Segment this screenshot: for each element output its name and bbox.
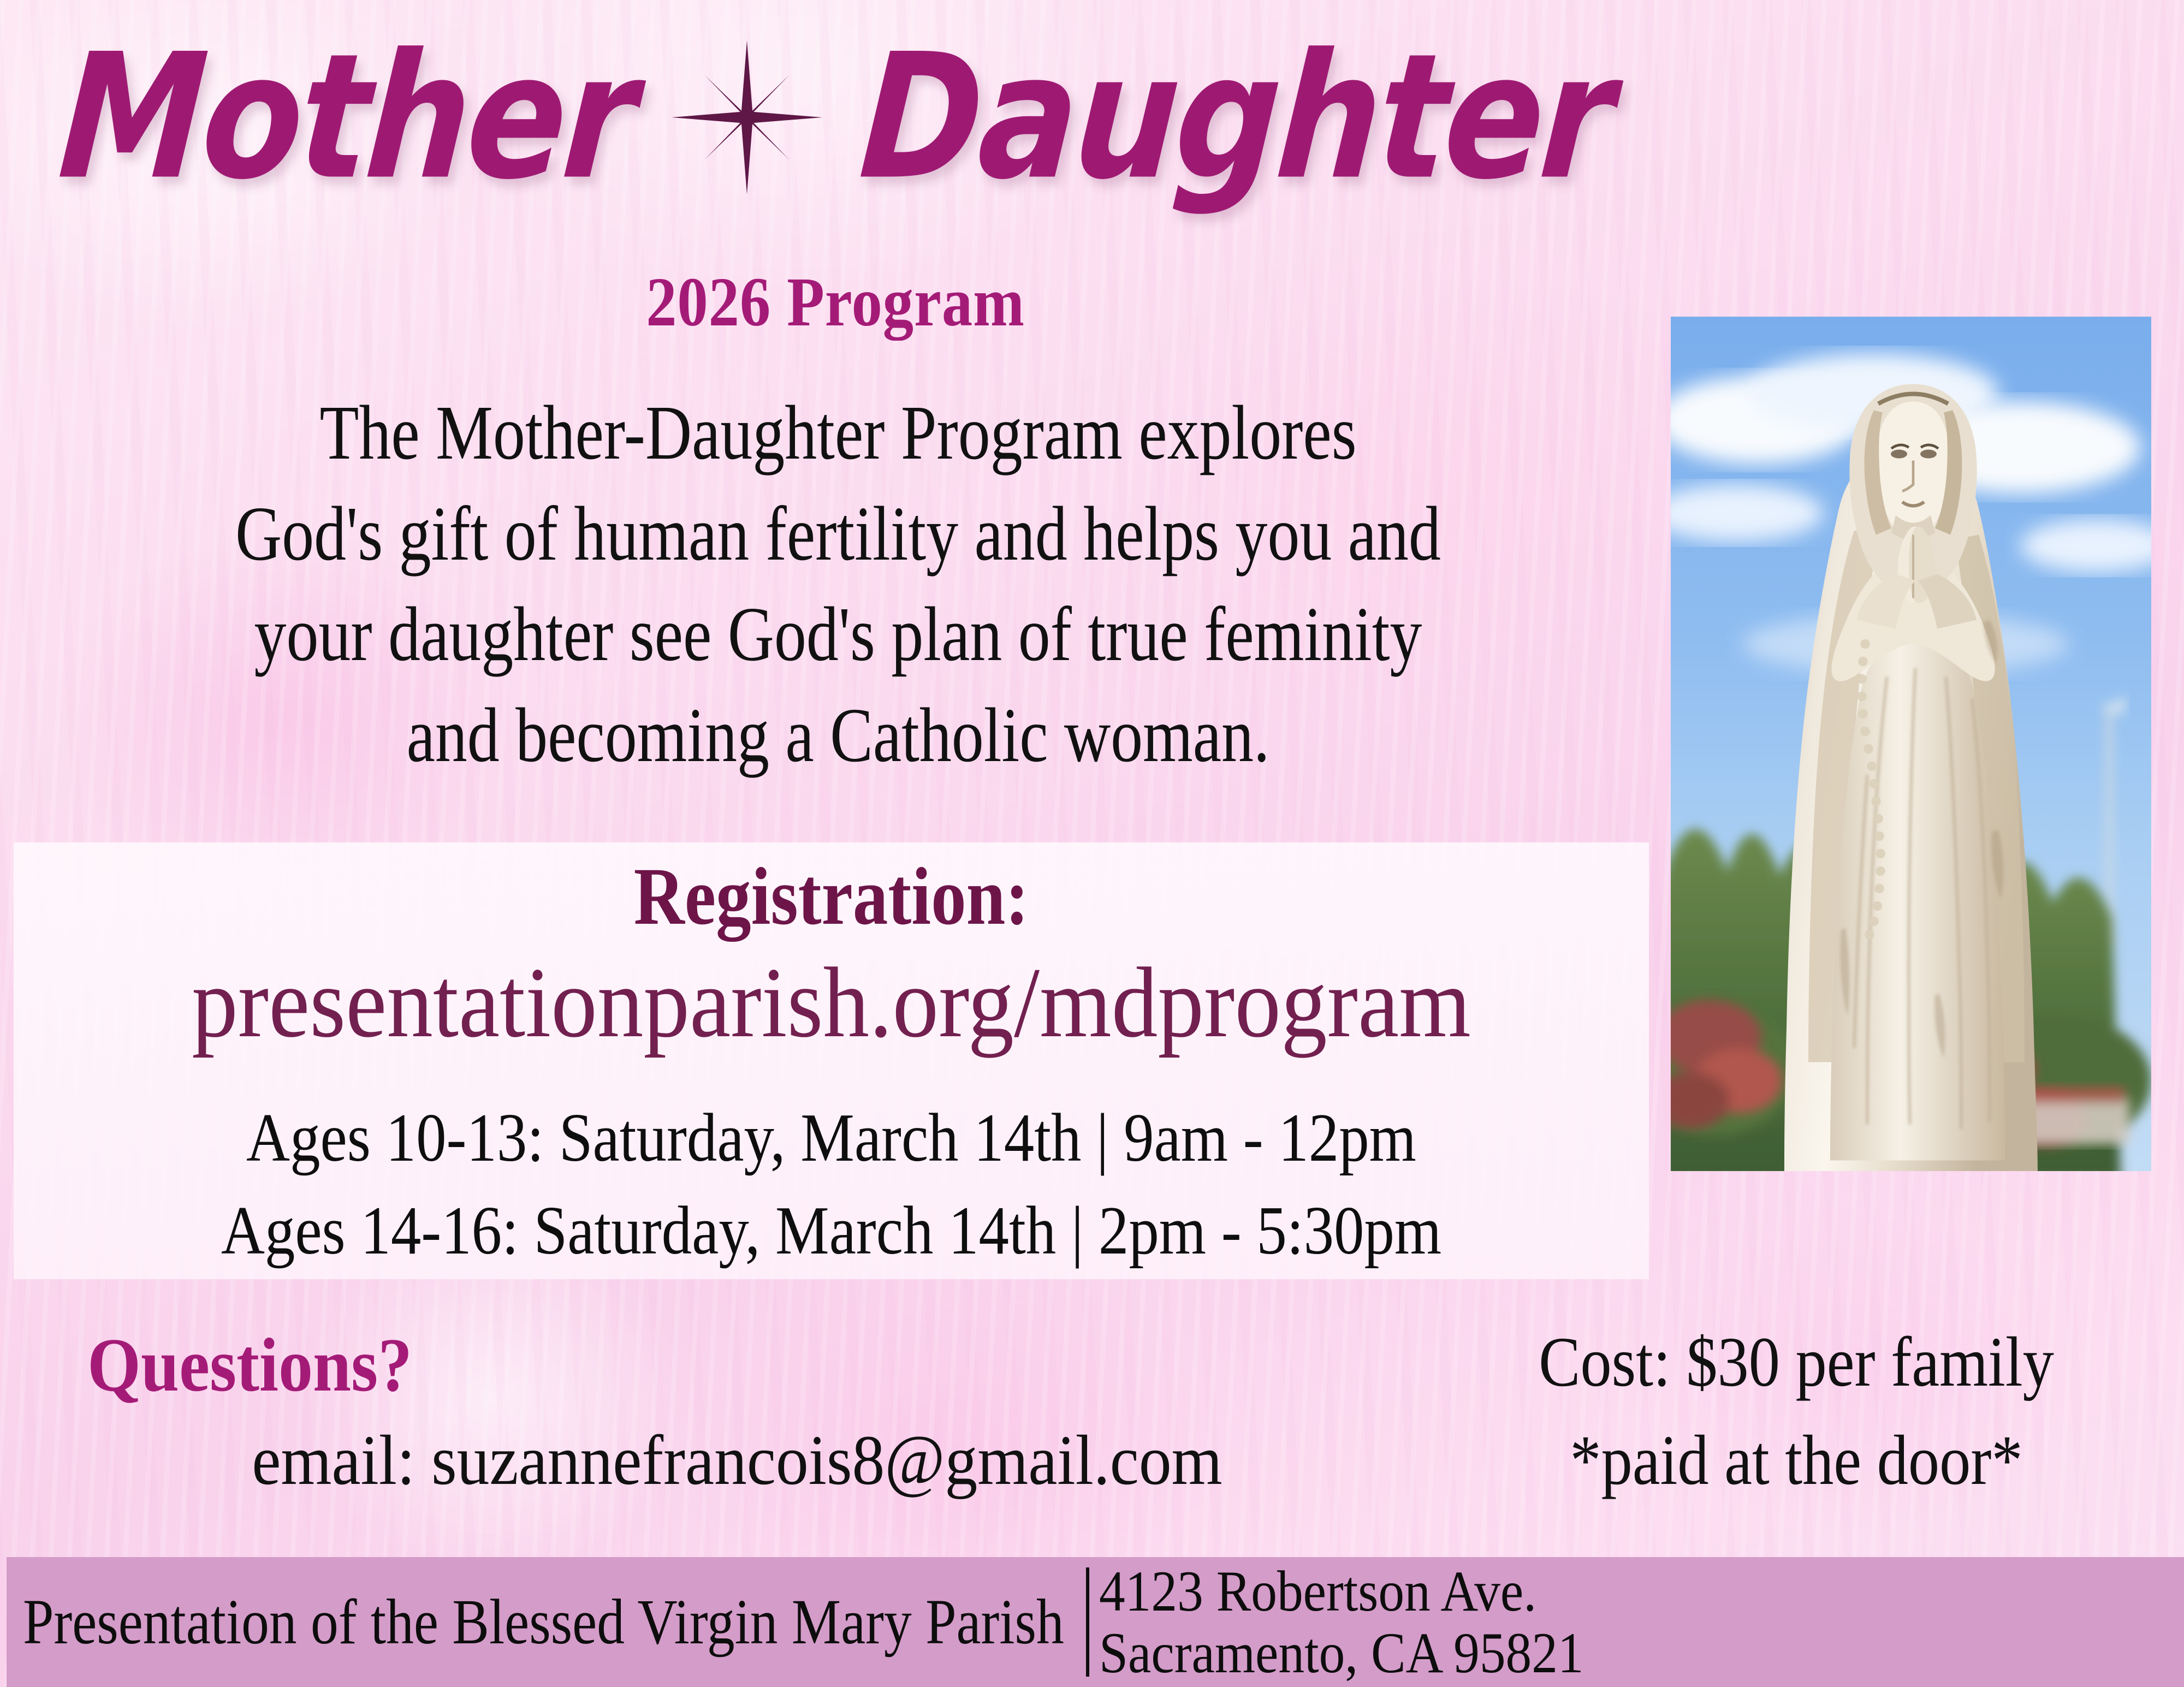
cost-payment-note: *paid at the door*: [1474, 1419, 2118, 1501]
footer-address-line1: 4123 Robertson Ave.: [1099, 1560, 1584, 1622]
description-line: God's gift of human fertility and helps …: [143, 483, 1534, 584]
description-line: your daughter see God's plan of true fem…: [143, 584, 1534, 685]
questions-heading: Questions?: [87, 1321, 412, 1409]
flyer-title: Mother Daughter: [0, 16, 1671, 218]
registration-url-link[interactable]: presentationparish.org/mdprogram: [79, 945, 1583, 1060]
footer-parish-name: Presentation of the Blessed Virgin Mary …: [23, 1585, 1064, 1659]
program-description: The Mother-Daughter Program explores God…: [143, 382, 1534, 785]
description-line: The Mother-Daughter Program explores: [143, 382, 1534, 483]
title-word-mother: Mother: [55, 35, 638, 199]
program-subtitle: 2026 Program: [100, 262, 1571, 342]
footer-address-line2: Sacramento, CA 95821: [1099, 1622, 1584, 1684]
cost-amount: Cost: $30 per family: [1474, 1321, 2118, 1403]
flyer-canvas: Mother Daughter 2026 Program The Mother-…: [0, 0, 2184, 1687]
footer-divider: [1086, 1567, 1089, 1677]
schedule-row-ages-10-13: Ages 10-13: Saturday, March 14th | 9am -…: [112, 1092, 1551, 1185]
title-word-daughter: Daughter: [856, 35, 1616, 199]
registration-heading: Registration:: [128, 850, 1535, 943]
contact-email[interactable]: email: suzannefrancois8@gmail.com: [84, 1419, 1390, 1501]
schedule-row-ages-14-16: Ages 14-16: Saturday, March 14th | 2pm -…: [112, 1185, 1551, 1278]
footer-address: 4123 Robertson Ave. Sacramento, CA 95821: [1099, 1560, 1584, 1684]
footer-bar: Presentation of the Blessed Virgin Mary …: [7, 1557, 2184, 1687]
session-schedule: Ages 10-13: Saturday, March 14th | 9am -…: [112, 1092, 1551, 1278]
sparkle-star-icon: [665, 35, 829, 199]
virgin-mary-statue-photo: [1671, 317, 2151, 1171]
description-line: and becoming a Catholic woman.: [143, 685, 1534, 786]
